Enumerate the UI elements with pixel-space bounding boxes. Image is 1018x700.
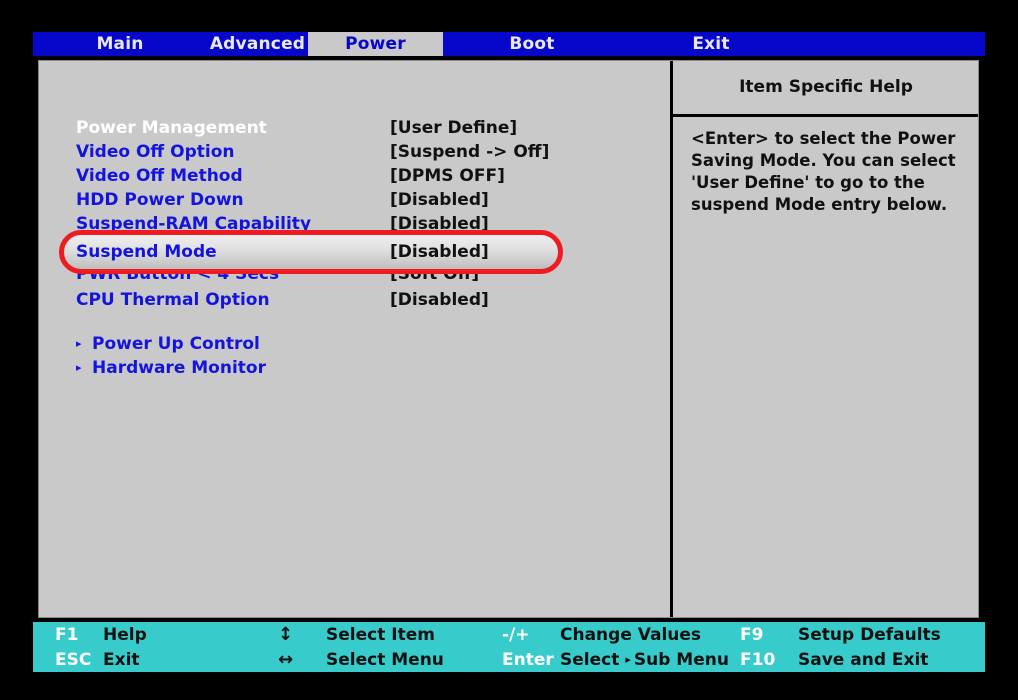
- submenu-row-power-up-control[interactable]: ▸ Power Up Control: [76, 332, 636, 355]
- status-entry-esc-exit[interactable]: ESC Exit: [55, 647, 140, 672]
- status-entry-f10-save-and-exit[interactable]: F10 Save and Exit: [740, 647, 928, 672]
- status-text: Setup Defaults: [798, 625, 941, 645]
- bios-setup-screen: Main Advanced Power Boot Exit Power Mana…: [0, 0, 1018, 700]
- left-right-arrow-icon: ↔: [278, 649, 326, 670]
- setting-row-suspend-mode[interactable]: Suspend Mode [Disabled]: [76, 240, 636, 263]
- submenu-label: Power Up Control: [92, 334, 260, 354]
- chevron-right-icon: ▸: [76, 338, 92, 349]
- status-entry-select-item[interactable]: ↕ Select Item: [278, 622, 435, 647]
- status-text: Change Values: [560, 625, 701, 645]
- setting-value: [Disabled]: [390, 242, 489, 262]
- status-entry-enter-select-submenu[interactable]: Enter Select ▸ Sub Menu: [502, 647, 729, 672]
- status-text: Select Menu: [326, 650, 444, 670]
- setting-row-cpu-thermal-option[interactable]: CPU Thermal Option [Disabled]: [76, 288, 636, 311]
- content-frame: Power Management [User Define] Video Off…: [36, 58, 981, 620]
- setting-row-video-off-method[interactable]: Video Off Method [DPMS OFF]: [76, 164, 636, 187]
- status-text: Select: [560, 650, 619, 670]
- up-down-arrow-icon: ↕: [278, 624, 326, 645]
- tab-boot[interactable]: Boot: [443, 32, 621, 56]
- status-text: Select Item: [326, 625, 435, 645]
- setting-row-video-off-option[interactable]: Video Off Option [Suspend -> Off]: [76, 140, 636, 163]
- setting-value: [Disabled]: [390, 290, 489, 310]
- setting-label: CPU Thermal Option: [76, 290, 390, 310]
- tab-boot-label: Boot: [509, 34, 554, 54]
- status-entry-select-menu[interactable]: ↔ Select Menu: [278, 647, 444, 672]
- setting-label: Power Management: [76, 118, 390, 138]
- tab-exit[interactable]: Exit: [621, 32, 801, 56]
- tab-power[interactable]: Power: [308, 32, 443, 56]
- status-submenu-text: Sub Menu: [634, 650, 729, 670]
- tab-main-label: Main: [96, 34, 143, 54]
- item-specific-help-panel: Item Specific Help <Enter> to select the…: [673, 60, 979, 618]
- settings-list: Power Management [User Define] Video Off…: [38, 60, 670, 618]
- submenu-label: Hardware Monitor: [92, 358, 266, 378]
- setting-label: Video Off Option: [76, 142, 390, 162]
- setting-value: [User Define]: [390, 118, 517, 138]
- setting-label: Video Off Method: [76, 166, 390, 186]
- menu-tab-bar: Main Advanced Power Boot Exit: [33, 32, 985, 56]
- setting-value: [Disabled]: [390, 190, 489, 210]
- status-text: Save and Exit: [798, 650, 928, 670]
- tab-advanced-label: Advanced: [210, 34, 305, 54]
- setting-row-hdd-power-down[interactable]: HDD Power Down [Disabled]: [76, 188, 636, 211]
- setting-value: [Suspend -> Off]: [390, 142, 549, 162]
- help-panel-divider: [673, 114, 979, 117]
- setting-value: [DPMS OFF]: [390, 166, 505, 186]
- submenu-row-hardware-monitor[interactable]: ▸ Hardware Monitor: [76, 356, 636, 379]
- tab-exit-label: Exit: [692, 34, 729, 54]
- status-key-bar: F1 Help ESC Exit ↕ Select Item ↔ Select …: [33, 622, 985, 672]
- status-text: Exit: [103, 650, 140, 670]
- tab-power-label: Power: [345, 34, 406, 54]
- setting-row-power-management[interactable]: Power Management [User Define]: [76, 116, 636, 139]
- setting-label: Suspend Mode: [76, 242, 390, 262]
- help-panel-body: <Enter> to select the Power Saving Mode.…: [691, 128, 965, 216]
- chevron-right-icon: ▸: [76, 362, 92, 373]
- status-entry-change-values[interactable]: -/+ Change Values: [502, 622, 701, 647]
- status-key: Enter: [502, 650, 560, 670]
- status-text: Help: [103, 625, 147, 645]
- status-key: -/+: [502, 625, 560, 645]
- status-key: F10: [740, 650, 798, 670]
- status-key: ESC: [55, 650, 103, 670]
- status-key: F1: [55, 625, 103, 645]
- tab-advanced[interactable]: Advanced: [207, 32, 308, 56]
- status-entry-f9-setup-defaults[interactable]: F9 Setup Defaults: [740, 622, 941, 647]
- setting-label: HDD Power Down: [76, 190, 390, 210]
- status-key: F9: [740, 625, 798, 645]
- chevron-right-icon: ▸: [619, 653, 634, 666]
- tab-main[interactable]: Main: [33, 32, 207, 56]
- status-entry-f1-help[interactable]: F1 Help: [55, 622, 147, 647]
- help-panel-title: Item Specific Help: [673, 60, 979, 114]
